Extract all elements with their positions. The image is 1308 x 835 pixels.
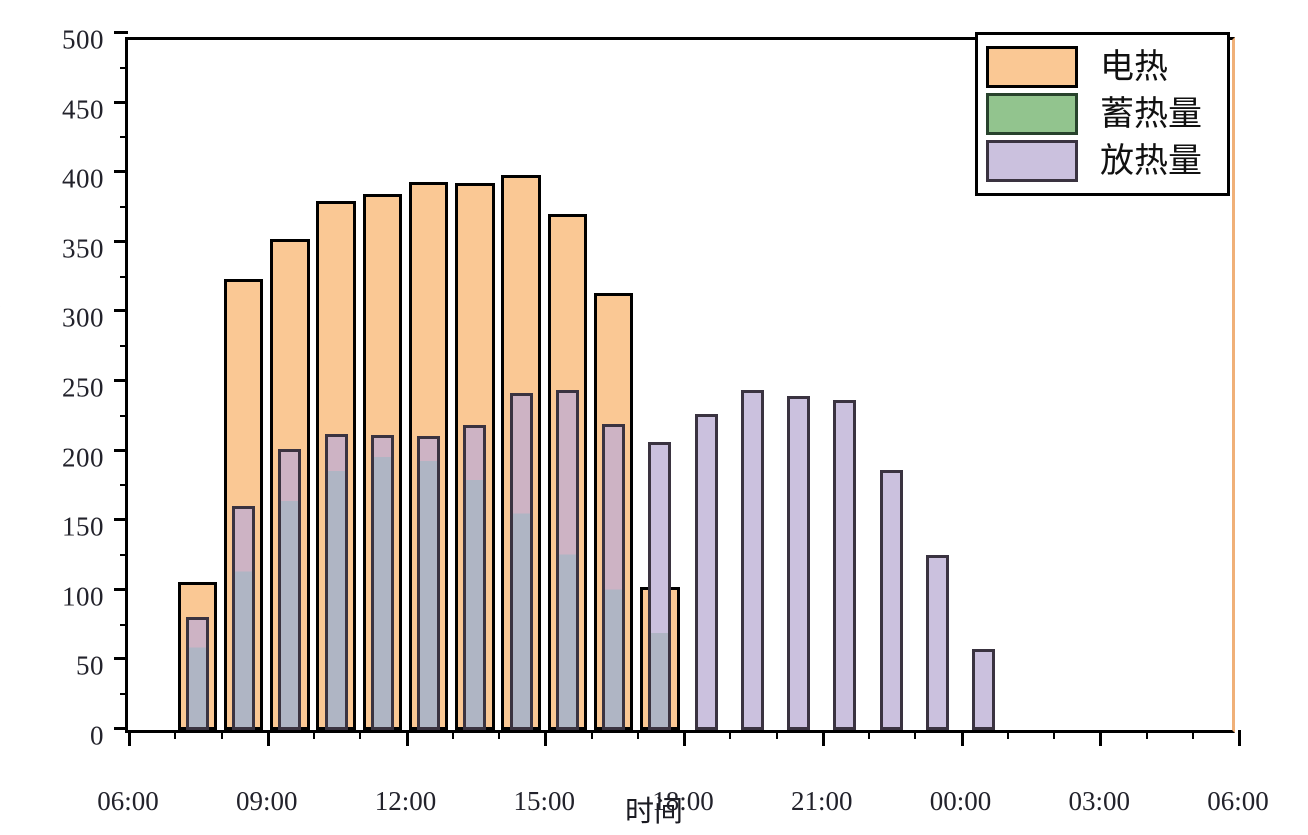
y-axis-tick-minor	[120, 206, 128, 208]
y-axis-tick-minor	[120, 693, 128, 695]
y-axis-tick-label: 400	[62, 164, 104, 195]
y-axis-tick-label: 50	[76, 651, 104, 682]
x-axis-tick-minor	[359, 730, 361, 739]
bar-released-heat	[556, 390, 579, 730]
bar-released-heat	[880, 470, 903, 730]
x-axis-tick-minor	[313, 730, 315, 739]
x-axis-tick-minor	[1146, 730, 1148, 739]
bar-released-heat	[417, 436, 440, 730]
x-axis-tick-major	[822, 730, 825, 746]
x-axis-tick-minor	[1007, 730, 1009, 739]
bar-released-heat	[833, 400, 856, 730]
x-axis-tick-major	[128, 730, 131, 746]
legend-swatch-released-heat	[986, 140, 1078, 182]
bar-released-heat	[325, 434, 348, 730]
y-axis-tick-major	[114, 31, 128, 34]
bar-released-heat	[695, 414, 718, 730]
y-axis-tick-minor	[120, 415, 128, 417]
x-axis-tick-minor	[914, 730, 916, 739]
y-axis-tick-major	[114, 449, 128, 452]
bar-released-heat	[972, 649, 995, 730]
bar-released-heat	[602, 424, 625, 730]
legend-item-released-heat: 放热量	[986, 138, 1219, 185]
x-axis-tick-minor	[591, 730, 593, 739]
legend-label-stored-heat: 蓄热量	[1100, 97, 1202, 131]
y-axis-title: 逐时热量变化图/(W•h)	[0, 244, 3, 526]
y-axis-tick-major	[114, 240, 128, 243]
y-axis-tick-major	[114, 588, 128, 591]
x-axis-tick-label: 21:00	[791, 786, 853, 817]
y-axis-tick-major	[114, 170, 128, 173]
y-axis-tick-major	[114, 309, 128, 312]
x-axis-tick-minor	[776, 730, 778, 739]
bar-released-heat	[278, 449, 301, 730]
y-axis-tick-label: 200	[62, 442, 104, 473]
x-axis-tick-major	[544, 730, 547, 746]
y-axis-tick-minor	[120, 276, 128, 278]
x-axis-tick-minor	[1053, 730, 1055, 739]
y-axis-tick-label: 450	[62, 94, 104, 125]
x-axis-tick-minor	[868, 730, 870, 739]
x-axis-tick-label: 12:00	[375, 786, 437, 817]
x-axis-tick-major	[267, 730, 270, 746]
x-axis-tick-major	[683, 730, 686, 746]
x-axis-tick-minor	[221, 730, 223, 739]
legend-label-electric-heat: 电热	[1100, 50, 1168, 84]
x-axis-tick-minor	[452, 730, 454, 739]
x-axis-tick-major	[406, 730, 409, 746]
legend-label-released-heat: 放热量	[1100, 144, 1202, 178]
legend-swatch-stored-heat	[986, 93, 1078, 135]
chart-root: 逐时热量变化图/(W•h) 时间 05010015020025030035040…	[0, 0, 1308, 835]
x-axis-tick-label: 09:00	[236, 786, 298, 817]
x-axis-tick-minor	[637, 730, 639, 739]
bar-released-heat	[371, 435, 394, 730]
x-axis-tick-minor	[174, 730, 176, 739]
bar-released-heat	[186, 617, 209, 730]
bar-released-heat	[510, 393, 533, 730]
x-axis-tick-label: 06:00	[1207, 786, 1269, 817]
bar-released-heat	[787, 396, 810, 730]
bar-released-heat	[463, 425, 486, 730]
legend-item-stored-heat: 蓄热量	[986, 91, 1219, 138]
y-axis-tick-minor	[120, 554, 128, 556]
y-axis-tick-major	[114, 101, 128, 104]
legend-swatch-electric-heat	[986, 46, 1078, 88]
y-axis-tick-major	[114, 518, 128, 521]
y-axis-tick-major	[114, 727, 128, 730]
y-axis-tick-label: 300	[62, 303, 104, 334]
x-axis-tick-label: 03:00	[1068, 786, 1130, 817]
y-axis-tick-label: 100	[62, 581, 104, 612]
y-axis-tick-major	[114, 379, 128, 382]
y-axis-tick-label: 500	[62, 25, 104, 56]
bar-released-heat	[232, 506, 255, 730]
x-axis-tick-major	[961, 730, 964, 746]
chart-legend: 电热 蓄热量 放热量	[975, 32, 1230, 196]
x-axis-tick-major	[1238, 730, 1241, 746]
y-axis-tick-minor	[120, 484, 128, 486]
y-axis-tick-major	[114, 657, 128, 660]
x-axis-tick-minor	[1192, 730, 1194, 739]
bar-released-heat	[741, 390, 764, 730]
x-axis-tick-label: 15:00	[513, 786, 575, 817]
x-axis-tick-minor	[498, 730, 500, 739]
y-axis-tick-label: 0	[90, 721, 104, 752]
legend-item-electric-heat: 电热	[986, 44, 1219, 91]
bar-released-heat	[648, 442, 671, 730]
y-axis-tick-minor	[120, 624, 128, 626]
y-axis-tick-label: 250	[62, 373, 104, 404]
y-axis-tick-label: 350	[62, 233, 104, 264]
x-axis-tick-label: 06:00	[97, 786, 159, 817]
y-axis-tick-label: 150	[62, 512, 104, 543]
bar-released-heat	[926, 555, 949, 730]
x-axis-tick-minor	[729, 730, 731, 739]
y-axis-tick-minor	[120, 67, 128, 69]
x-axis-tick-label: 00:00	[930, 786, 992, 817]
x-axis-tick-label: 18:00	[652, 786, 714, 817]
x-axis-tick-major	[1099, 730, 1102, 746]
y-axis-tick-minor	[120, 345, 128, 347]
y-axis-tick-minor	[120, 136, 128, 138]
